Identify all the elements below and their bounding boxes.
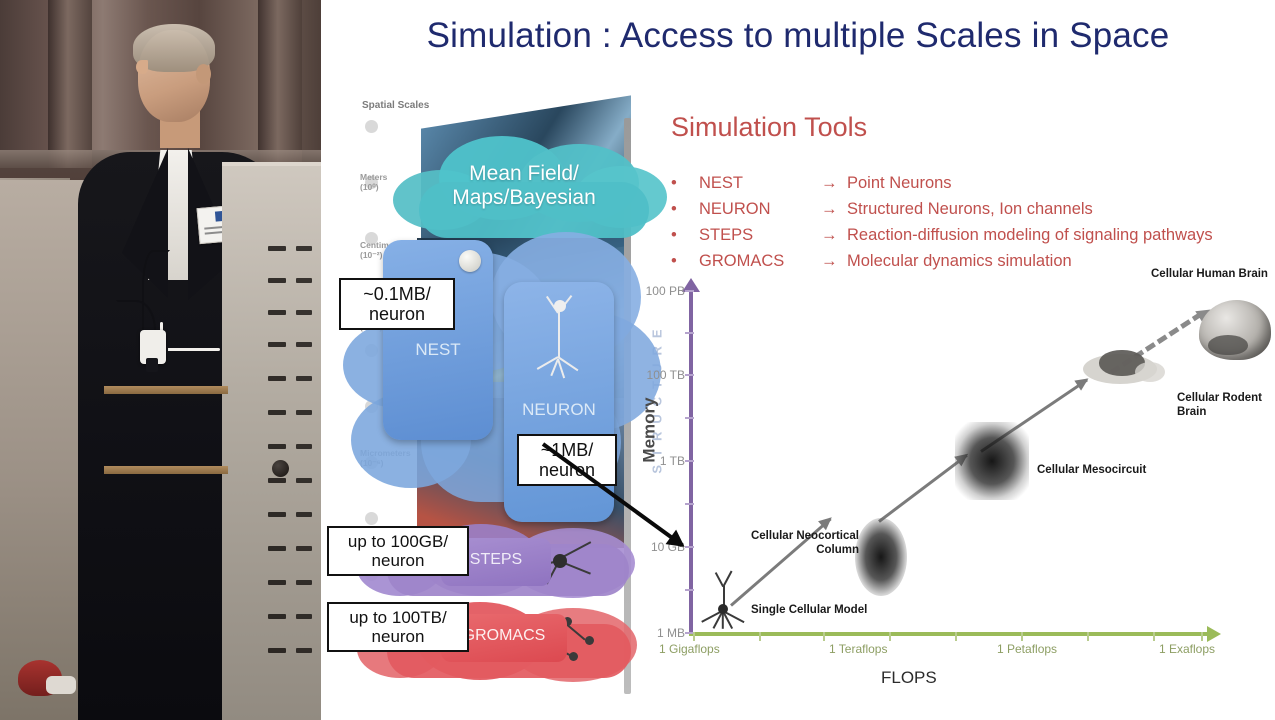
card-name-neuron: NEURON xyxy=(504,400,614,420)
bullet-icon: • xyxy=(671,226,677,245)
tool-name: NEURON xyxy=(699,200,771,219)
hall-pillar xyxy=(258,0,302,170)
memory-note-gromacs: up to 100TB/neuron xyxy=(327,602,469,652)
x-axis-arrowhead xyxy=(1207,626,1221,642)
tool-desc: Molecular dynamics simulation xyxy=(847,252,1072,271)
memory-vs-flops-chart: Memory FLOPS 1 MB 10 GB 1 TB 100 TB 100 … xyxy=(651,280,1271,680)
structured-neuron-doodle xyxy=(532,296,588,382)
memory-note-steps: up to 100GB/neuron xyxy=(327,526,469,576)
marker-cellular-rodent-brain xyxy=(1083,346,1169,392)
y-tick-label: 100 PB xyxy=(646,284,685,298)
bullet-icon: • xyxy=(671,252,677,271)
arrow-icon: → xyxy=(821,252,838,271)
tool-desc: Structured Neurons, Ion channels xyxy=(847,200,1093,219)
label-cellular-human-brain: Cellular Human Brain xyxy=(1151,268,1268,282)
tools-heading: Simulation Tools xyxy=(671,112,1271,143)
label-single-cellular-model: Single Cellular Model xyxy=(751,604,867,618)
x-tick-label: 1 Petaflops xyxy=(997,642,1057,656)
x-axis-title: FLOPS xyxy=(881,668,937,688)
bullet-icon: • xyxy=(671,200,677,219)
speaker-video-panel xyxy=(0,0,321,720)
simulation-tools-block: Simulation Tools • NEST → Point Neurons … xyxy=(671,112,1271,143)
y-tick-label: 1 TB xyxy=(660,454,685,468)
cloud-label-mean-field: Mean Field/Maps/Bayesian xyxy=(399,162,649,210)
tool-name: NEST xyxy=(699,174,743,193)
y-tick-label: 100 TB xyxy=(647,368,685,382)
memory-note-nest: ~0.1MB/neuron xyxy=(339,278,455,330)
adapter-wire xyxy=(168,348,220,351)
scale-dot xyxy=(365,120,378,133)
tool-desc: Reaction-diffusion modeling of signaling… xyxy=(847,226,1213,245)
presentation-slide: Simulation : Access to multiple Scales i… xyxy=(321,0,1275,720)
y-tick-label: 1 MB xyxy=(657,626,685,640)
slide-stage: Simulation : Access to multiple Scales i… xyxy=(0,0,1275,720)
adapter-plug xyxy=(146,358,158,372)
arrow-icon: → xyxy=(821,226,838,245)
x-tick-label: 1 Teraflops xyxy=(829,642,887,656)
bullet-icon: • xyxy=(671,174,677,193)
speaker-ear xyxy=(196,64,211,84)
podium-knob xyxy=(272,460,289,477)
label-cellular-rodent-brain: Cellular Rodent Brain xyxy=(1177,392,1271,420)
podium-rail xyxy=(104,386,228,394)
label-cellular-neocortical-column: Cellular NeocorticalColumn xyxy=(729,530,859,558)
card-nest[interactable]: NEST xyxy=(383,240,493,440)
marker-cellular-human-brain xyxy=(1199,300,1271,360)
tool-desc: Point Neurons xyxy=(847,174,952,193)
y-axis-title: Memory xyxy=(640,397,660,462)
card-name-nest: NEST xyxy=(383,340,493,360)
arrow-icon: → xyxy=(821,174,838,193)
marker-single-cellular-model xyxy=(693,570,757,634)
tool-name: STEPS xyxy=(699,226,753,245)
arrow-icon: → xyxy=(821,200,838,219)
x-tick-label: 1 Gigaflops xyxy=(659,642,720,656)
x-axis xyxy=(689,632,1209,636)
page-title: Simulation : Access to multiple Scales i… xyxy=(321,16,1275,56)
marker-cellular-mesocircuit xyxy=(955,422,1029,500)
label-cellular-mesocircuit: Cellular Mesocircuit xyxy=(1037,464,1146,478)
tool-name: GROMACS xyxy=(699,252,784,271)
spatial-scales-heading: Spatial Scales xyxy=(362,100,429,111)
speaker-nose xyxy=(136,60,148,74)
x-tick-label: 1 Exaflops xyxy=(1159,642,1215,656)
podium-rail xyxy=(104,466,228,474)
point-neuron-dot xyxy=(459,250,481,272)
floor-object xyxy=(46,676,76,694)
hall-pillar xyxy=(48,0,92,170)
marker-cellular-neocortical-column xyxy=(855,518,907,596)
